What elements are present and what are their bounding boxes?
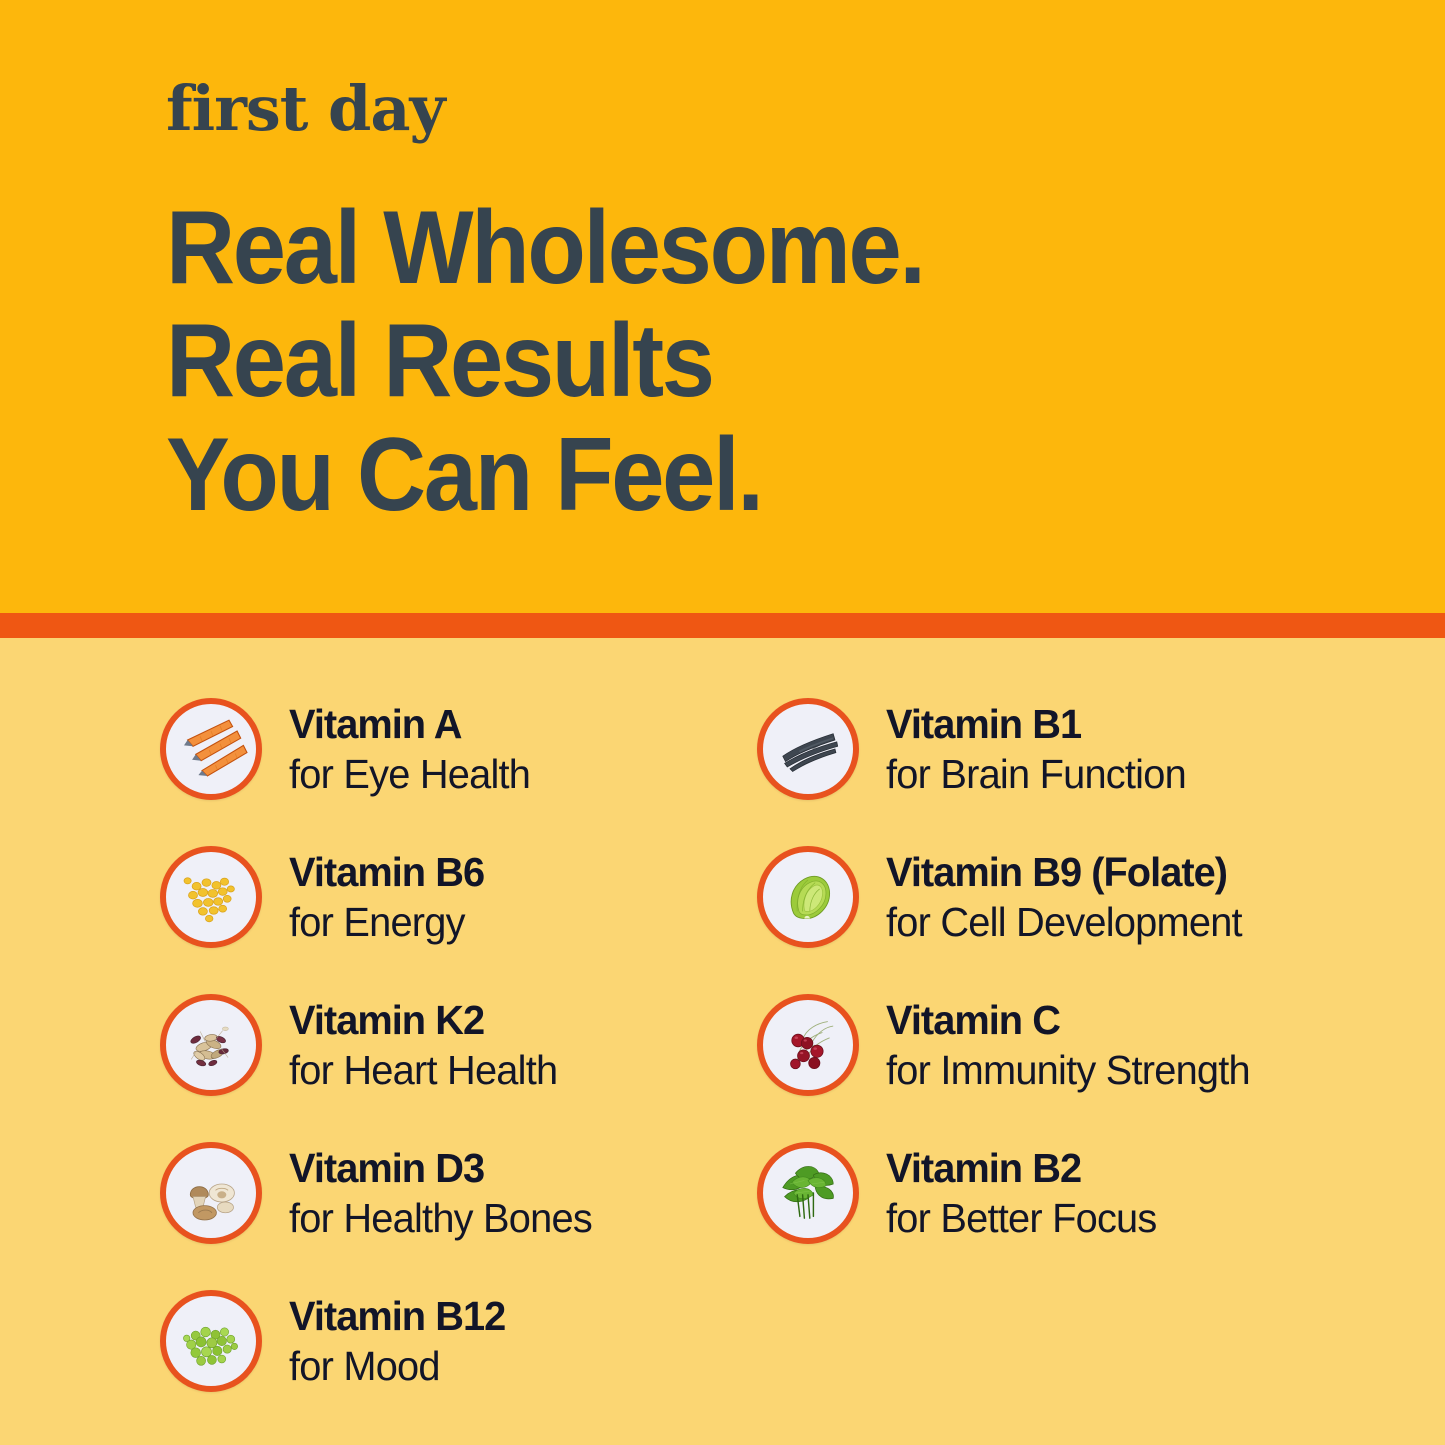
mushrooms-icon <box>160 1142 262 1244</box>
vitamin-name: Vitamin K2 <box>289 1000 557 1041</box>
headline-line-1: Real Wholesome. <box>166 192 1343 305</box>
list-item-text: Vitamin B12 for Mood <box>289 1296 512 1387</box>
list-item: Vitamin B1 for Brain Function <box>757 675 1417 823</box>
list-item-text: Vitamin B1 for Brain Function <box>886 704 1195 795</box>
list-item-text: Vitamin K2 for Heart Health <box>289 1000 566 1091</box>
list-item-text: Vitamin A for Eye Health <box>289 704 538 795</box>
romaine-lettuce-icon <box>757 846 859 948</box>
list-item: Vitamin C for Immunity Strength <box>757 971 1417 1119</box>
vitamin-name: Vitamin D3 <box>289 1148 592 1189</box>
vitamin-benefit: for Better Focus <box>886 1198 1157 1239</box>
carrots-icon <box>160 698 262 800</box>
headline-line-2: Real Results <box>166 305 1343 418</box>
list-item: Vitamin B6 for Energy <box>160 823 745 971</box>
seaweed-kelp-icon <box>757 698 859 800</box>
acerola-cherries-icon <box>757 994 859 1096</box>
list-item: Vitamin A for Eye Health <box>160 675 745 823</box>
list-item-text: Vitamin B9 (Folate) for Cell Development <box>886 852 1253 943</box>
list-item-text: Vitamin B6 for Energy <box>289 852 490 943</box>
vitamin-name: Vitamin B9 (Folate) <box>886 852 1242 893</box>
vitamin-column-left: Vitamin A for Eye Health <box>160 675 745 1415</box>
list-item: Vitamin B9 (Folate) for Cell Development <box>757 823 1417 971</box>
vitamin-benefit: for Brain Function <box>886 754 1186 795</box>
vitamin-name: Vitamin B6 <box>289 852 484 893</box>
list-item-text: Vitamin C for Immunity Strength <box>886 1000 1261 1091</box>
vitamin-name: Vitamin B2 <box>886 1148 1157 1189</box>
vitamin-name: Vitamin B12 <box>289 1296 505 1337</box>
page-title: Real Wholesome. Real Results You Can Fee… <box>166 192 1343 532</box>
vitamin-name: Vitamin C <box>886 1000 1250 1041</box>
vitamin-benefit: for Eye Health <box>289 754 530 795</box>
vitamin-benefit: for Energy <box>289 902 484 943</box>
vitamin-name: Vitamin A <box>289 704 530 745</box>
vitamin-column-right: Vitamin B1 for Brain Function <box>757 675 1417 1267</box>
list-item: Vitamin K2 for Heart Health <box>160 971 745 1119</box>
list-item: Vitamin B12 for Mood <box>160 1267 745 1415</box>
vitamin-benefit: for Cell Development <box>886 902 1242 943</box>
headline-line-3: You Can Feel. <box>166 419 1343 532</box>
vitamin-columns: Vitamin A for Eye Health <box>0 675 1445 1415</box>
spinach-bunch-icon <box>757 1142 859 1244</box>
brand-logo: first day <box>166 78 1445 140</box>
marketing-infographic: first day Real Wholesome. Real Results Y… <box>0 0 1445 1445</box>
list-item-text: Vitamin B2 for Better Focus <box>886 1148 1165 1239</box>
list-item: Vitamin D3 for Healthy Bones <box>160 1119 745 1267</box>
vitamin-benefit: for Mood <box>289 1346 505 1387</box>
vitamin-list-section: Vitamin A for Eye Health <box>0 638 1445 1445</box>
list-item-text: Vitamin D3 for Healthy Bones <box>289 1148 601 1239</box>
corn-kernels-icon <box>160 846 262 948</box>
hero-section: first day Real Wholesome. Real Results Y… <box>0 0 1445 613</box>
green-peas-icon <box>160 1290 262 1392</box>
vitamin-benefit: for Immunity Strength <box>886 1050 1250 1091</box>
divider-band <box>0 613 1445 638</box>
vitamin-benefit: for Healthy Bones <box>289 1198 592 1239</box>
vitamin-name: Vitamin B1 <box>886 704 1186 745</box>
vitamin-benefit: for Heart Health <box>289 1050 557 1091</box>
list-item: Vitamin B2 for Better Focus <box>757 1119 1417 1267</box>
natto-beans-icon <box>160 994 262 1096</box>
